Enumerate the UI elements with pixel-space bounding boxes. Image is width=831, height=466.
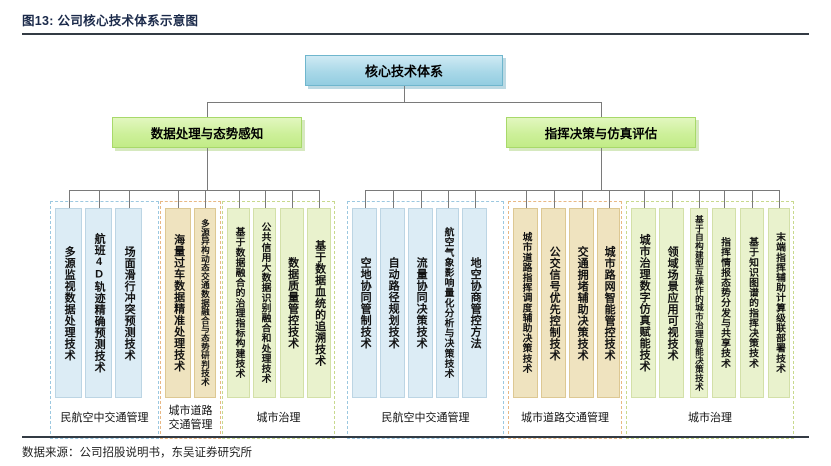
connector-left-drop-6 [265,190,266,208]
leaf-box: 城市治理数字仿真赋能技术 [631,208,656,398]
root-node: 核心技术体系 [305,55,503,86]
connector-left-stem [207,148,208,190]
leaf-box: 基于自构建型互操作的城市治理智能决策技术 [690,208,708,398]
leaf-box: 多源监视数据处理技术 [55,208,82,398]
connector-left-drop-2 [129,190,130,208]
branch-node-right: 指挥决策与仿真评估 [506,117,696,148]
connector-right-drop-7 [582,190,583,208]
leaf-box: 自动路径规划技术 [380,208,405,398]
connector-root-bus [207,102,601,103]
leaf-box: 航空气象影响量化分析与决策技术 [436,208,459,398]
connector-left-drop-1 [99,190,100,208]
connector-to-right-branch [601,102,602,117]
figure-page: 图13: 公司核心技术体系示意图 核心技术体系数据处理与态势感知指挥决策与仿真评… [0,0,831,466]
connector-right-bus [365,190,780,191]
category-label-cat-5: 城市道路交通管理 [508,401,622,437]
footer-divider [22,436,809,438]
leaf-box: 场面滑行冲突预测技术 [115,208,142,398]
leaf-box: 基于数据融合的治理指标构建技术 [227,208,250,398]
leaf-box: 领域场景应用可视技术 [659,208,684,398]
connector-right-drop-8 [609,190,610,208]
category-label-cat-2: 城市道路交通管理 [160,401,221,437]
connector-left-drop-8 [319,190,320,208]
leaf-box: 城市道路指挥调度辅助决策技术 [513,208,538,398]
leaf-box: 基于知识图谱的指挥决策技术 [740,208,764,398]
leaf-box: 交通拥堵辅助决策技术 [569,208,594,398]
connector-left-drop-0 [69,190,70,208]
category-label-cat-1: 民航空中交通管理 [50,401,159,437]
title-divider-top [22,33,809,35]
leaf-box: 指挥情报态势分发与共享技术 [712,208,736,398]
connector-right-drop-5 [526,190,527,208]
leaf-box: 流量协同决策技术 [408,208,433,398]
leaf-box: 地空协商管控方法 [462,208,487,398]
connector-left-drop-7 [292,190,293,208]
figure-title: 图13: 公司核心技术体系示意图 [22,10,198,29]
connector-right-drop-14 [779,190,780,208]
category-label-cat-6: 城市治理 [626,401,794,437]
connector-right-drop-12 [724,190,725,208]
diagram-canvas: 核心技术体系数据处理与态势感知指挥决策与仿真评估多源监视数据处理技术航班4D轨迹… [0,38,831,432]
leaf-box: 公共信用大数据识别融合和处理技术 [253,208,276,398]
connector-right-drop-1 [393,190,394,208]
connector-right-drop-11 [699,190,700,208]
category-label-line2: 交通管理 [169,419,213,431]
connector-left-drop-4 [205,190,206,208]
connector-left-drop-5 [239,190,240,208]
leaf-box: 空地协同管制技术 [352,208,377,398]
connector-right-drop-3 [448,190,449,208]
connector-right-drop-0 [365,190,366,208]
connector-right-stem [601,148,602,190]
category-label-cat-4: 民航空中交通管理 [347,401,504,437]
connector-right-drop-2 [421,190,422,208]
category-label-line1: 城市道路 [169,405,213,417]
connector-right-drop-9 [644,190,645,208]
connector-left-bus [69,190,320,191]
leaf-box: 海量过车数据精准处理技术 [165,208,191,398]
leaf-box: 航班4D轨迹精确预测技术 [85,208,112,398]
connector-right-drop-10 [672,190,673,208]
connector-root-stem [404,86,405,102]
connector-right-drop-4 [475,190,476,208]
category-label-cat-3: 城市治理 [222,401,335,437]
connector-left-drop-3 [178,190,179,208]
leaf-box: 末端指挥辅助计算级联部署技术 [768,208,790,398]
category-label-text: 城市道路交通管理 [169,405,213,433]
leaf-box: 公交信号优先控制技术 [541,208,566,398]
connector-right-drop-6 [554,190,555,208]
branch-node-left: 数据处理与态势感知 [112,117,302,148]
source-note: 数据来源：公司招股说明书，东吴证券研究所 [22,444,252,460]
connector-to-left-branch [207,102,208,117]
leaf-box: 基于数据血统的追溯技术 [307,208,331,398]
leaf-box: 数据质量管控技术 [280,208,304,398]
leaf-box: 多源异构动态交通数据融合与态势研判技术 [194,208,216,398]
connector-right-drop-13 [752,190,753,208]
leaf-box: 城市路网智能管控技术 [597,208,620,398]
